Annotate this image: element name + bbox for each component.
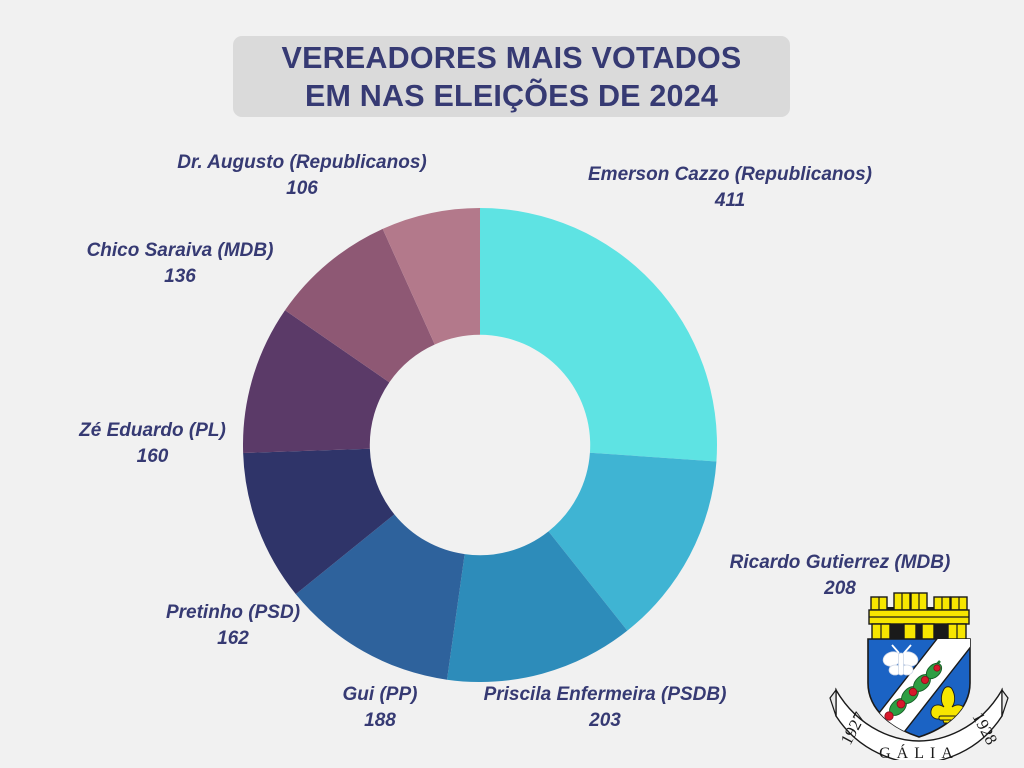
slice-label-value: 136 bbox=[50, 264, 310, 290]
slice-label-value: 188 bbox=[290, 708, 470, 734]
crest-municipality-name: GÁLIA bbox=[879, 743, 959, 760]
slide-canvas: VEREADORES MAIS VOTADOS EM NAS ELEIÇÕES … bbox=[0, 0, 1024, 768]
slice-label-value: 411 bbox=[555, 188, 905, 214]
slice-label-name: Emerson Cazzo (Republicanos) bbox=[588, 164, 872, 185]
mural-crown-icon bbox=[869, 593, 969, 641]
slice-label-name: Zé Eduardo (PL) bbox=[79, 420, 226, 441]
slice-label-value: 106 bbox=[132, 176, 472, 202]
slice-label-gui: Gui (PP) 188 bbox=[290, 682, 470, 734]
slice-label-chico-saraiva: Chico Saraiva (MDB) 136 bbox=[50, 238, 310, 290]
slice-label-ze-eduardo: Zé Eduardo (PL) 160 bbox=[30, 418, 275, 470]
slice-label-name: Dr. Augusto (Republicanos) bbox=[177, 152, 426, 173]
slice-label-dr-augusto: Dr. Augusto (Republicanos) 106 bbox=[132, 150, 472, 202]
slice-label-emerson-cazzo: Emerson Cazzo (Republicanos) 411 bbox=[555, 162, 905, 214]
slice-label-name: Priscila Enfermeira (PSDB) bbox=[484, 684, 727, 705]
coat-of-arms-svg: 1927 1928 GÁLIA bbox=[828, 585, 1010, 760]
slice-label-value: 203 bbox=[440, 708, 770, 734]
chart-title-line-1: VEREADORES MAIS VOTADOS bbox=[282, 39, 742, 77]
slice-label-priscila-enfermeira: Priscila Enfermeira (PSDB) 203 bbox=[440, 682, 770, 734]
slice-label-name: Chico Saraiva (MDB) bbox=[87, 240, 274, 261]
slice-label-pretinho: Pretinho (PSD) 162 bbox=[108, 600, 358, 652]
chart-title-box: VEREADORES MAIS VOTADOS EM NAS ELEIÇÕES … bbox=[233, 36, 790, 117]
slice-label-value: 160 bbox=[30, 444, 275, 470]
chart-title-line-2: EM NAS ELEIÇÕES DE 2024 bbox=[305, 77, 718, 115]
slice-label-value: 162 bbox=[108, 626, 358, 652]
donut-slice[interactable] bbox=[480, 208, 717, 462]
municipal-coat-of-arms: 1927 1928 GÁLIA bbox=[828, 585, 1010, 760]
slice-label-name: Ricardo Gutierrez (MDB) bbox=[730, 552, 951, 573]
slice-label-name: Pretinho (PSD) bbox=[166, 602, 300, 623]
slice-label-name: Gui (PP) bbox=[343, 684, 418, 705]
